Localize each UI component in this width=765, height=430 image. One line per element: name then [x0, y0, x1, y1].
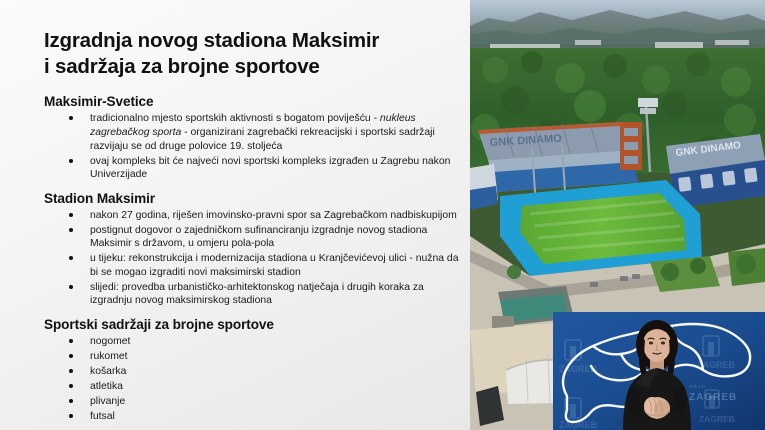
list-item: u tijeku: rekonstrukcija i modernizacija… [44, 252, 462, 279]
list-item: slijedi: provedba urbanističko-arhitekto… [44, 281, 462, 308]
svg-text:ZAGREB: ZAGREB [699, 414, 735, 424]
bullet-text: košarka [90, 366, 126, 377]
bullet-dot-icon [69, 354, 73, 358]
bullet-dot-icon [69, 339, 73, 343]
bullet-dot-icon [69, 228, 73, 232]
bullet-dot-icon [69, 399, 73, 403]
section-heading-maksimir-svetice: Maksimir-Svetice [44, 94, 462, 109]
bullet-list-maksimir-svetice: tradicionalno mjesto sportskih aktivnost… [44, 112, 462, 181]
slide-title-line-2: i sadržaja za brojne sportove [44, 54, 454, 80]
list-item: tradicionalno mjesto sportskih aktivnost… [44, 112, 462, 153]
list-item: košarka [44, 365, 462, 379]
bullet-dot-icon [69, 369, 73, 373]
bullet-list-sports: nogomet rukomet košarka atletika plivanj… [44, 335, 462, 424]
bullet-text: postignut dogovor o zajedničkom sufinanc… [90, 225, 427, 250]
list-item: rukomet [44, 350, 462, 364]
list-item: futsal [44, 410, 462, 424]
bullet-text: nakon 27 godina, riješen imovinsko-pravn… [90, 210, 457, 221]
bullet-text: rukomet [90, 351, 128, 362]
list-item: ovaj kompleks bit će najveći novi sports… [44, 155, 462, 182]
bullet-text-pre: tradicionalno mjesto sportskih aktivnost… [90, 113, 380, 124]
bullet-dot-icon [69, 213, 73, 217]
bullet-dot-icon [69, 159, 73, 163]
slide-title: Izgradnja novog stadiona Maksimir i sadr… [44, 28, 454, 80]
section-heading-stadion-maksimir: Stadion Maksimir [44, 191, 462, 206]
interpreter-graphic: ZAGREB ZAGREB ZAGREB ZAGREB [553, 312, 765, 430]
bullet-list-stadion-maksimir: nakon 27 godina, riješen imovinsko-pravn… [44, 209, 462, 308]
bullet-dot-icon [69, 414, 73, 418]
bullet-dot-icon [69, 256, 73, 260]
slide-title-line-1: Izgradnja novog stadiona Maksimir [44, 28, 454, 54]
svg-text:ZAGREB: ZAGREB [689, 392, 737, 403]
section-maksimir-svetice: Maksimir-Svetice tradicionalno mjesto sp… [44, 94, 462, 181]
bullet-text: slijedi: provedba urbanističko-arhitekto… [90, 282, 424, 307]
list-item: plivanje [44, 395, 462, 409]
section-heading-sportski-sadrzaji: Sportski sadržaji za brojne sportove [44, 317, 462, 332]
sign-language-interpreter-inset: ZAGREB ZAGREB ZAGREB ZAGREB [553, 312, 765, 430]
list-item: postignut dogovor o zajedničkom sufinanc… [44, 224, 462, 251]
section-sportski-sadrzaji: Sportski sadržaji za brojne sportove nog… [44, 317, 462, 424]
bullet-text: nogomet [90, 336, 130, 347]
list-item: atletika [44, 380, 462, 394]
slide-text-column: Izgradnja novog stadiona Maksimir i sadr… [0, 0, 470, 430]
bullet-text: ovaj kompleks bit će najveći novi sports… [90, 156, 450, 181]
bullet-dot-icon [69, 116, 73, 120]
bullet-dot-icon [69, 384, 73, 388]
bullet-text: futsal [90, 411, 115, 422]
svg-text:GRAD: GRAD [689, 384, 706, 389]
list-item: nakon 27 godina, riješen imovinsko-pravn… [44, 209, 462, 223]
bullet-text: atletika [90, 381, 123, 392]
presentation-slide: Izgradnja novog stadiona Maksimir i sadr… [0, 0, 765, 430]
bullet-text: u tijeku: rekonstrukcija i modernizacija… [90, 253, 458, 278]
bullet-dot-icon [69, 285, 73, 289]
section-stadion-maksimir: Stadion Maksimir nakon 27 godina, riješe… [44, 191, 462, 308]
bullet-text: plivanje [90, 396, 125, 407]
list-item: nogomet [44, 335, 462, 349]
